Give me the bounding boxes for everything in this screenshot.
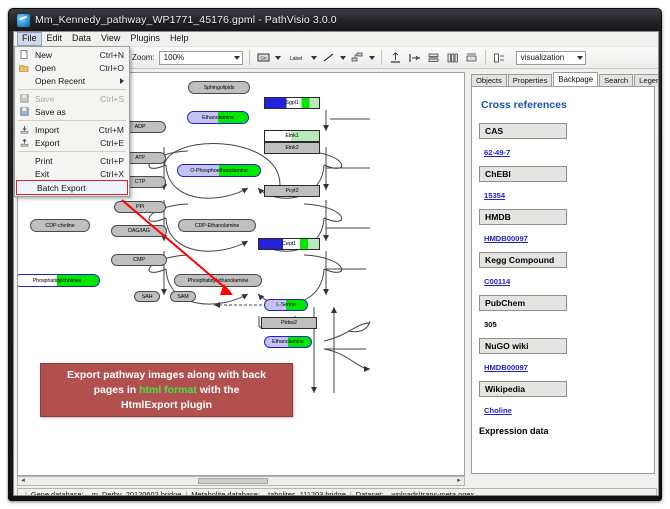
node-label: O-Phosphoethanolamine	[190, 168, 248, 174]
pathway-node-sah[interactable]: SAH	[134, 291, 160, 302]
cross-reference-list: CAS62-49-7ChEBI15354HMDBHMDB00097Kegg Co…	[479, 123, 647, 424]
xref-value-wikipedia[interactable]: Choline	[484, 406, 512, 415]
side-panel: Objects Properties Backpage Search Legen…	[469, 72, 657, 476]
tab-search[interactable]: Search	[599, 74, 633, 86]
xref-value-row: Choline	[479, 400, 647, 424]
xref-value-row: 15354	[479, 185, 647, 209]
toolbar-separator	[381, 50, 382, 65]
tab-legend[interactable]: Legend	[634, 74, 659, 86]
tab-properties[interactable]: Properties	[508, 74, 553, 86]
window-title: Mm_Kennedy_pathway_WP1771_45176.gpml - P…	[35, 14, 337, 26]
callout-line-2: pages in html format with the	[94, 383, 240, 398]
label-dropdown-icon[interactable]	[311, 56, 317, 60]
xref-value-row: HMDB00097	[479, 228, 647, 252]
menu-plugins[interactable]: Plugins	[125, 32, 165, 46]
file-menu-item-save: SaveCtrl+S	[15, 92, 129, 105]
zoom-combobox[interactable]: 100%	[159, 51, 243, 65]
file-menu-label: Import	[31, 125, 99, 135]
toolbar-separator	[485, 50, 486, 65]
hscroll-thumb[interactable]	[198, 478, 268, 484]
screenshot-root: Mm_Kennedy_pathway_WP1771_45176.gpml - P…	[0, 0, 670, 509]
menu-file[interactable]: File	[17, 32, 42, 46]
xref-header-kegg-compound: Kegg Compound	[479, 252, 567, 268]
application-window: Mm_Kennedy_pathway_WP1771_45176.gpml - P…	[8, 8, 662, 501]
expression-data-heading: Expression data	[479, 426, 647, 436]
menu-separator	[18, 151, 126, 152]
node-label: CDP-Ethanolamine	[195, 223, 240, 229]
menu-edit[interactable]: Edit	[42, 32, 68, 46]
gene-node-etnk1[interactable]: Etnk1	[264, 130, 320, 142]
pathway-node-dag-iag[interactable]: DAG/IAG	[111, 225, 167, 237]
zoom-label: Zoom:	[132, 53, 155, 62]
xref-value-chebi[interactable]: 15354	[484, 191, 505, 200]
pathway-node-o-phosphoethanolamine[interactable]: O-Phosphoethanolamine	[177, 164, 261, 177]
file-menu-item-new[interactable]: NewCtrl+N	[15, 48, 129, 61]
visualization-combobox[interactable]: visualization	[516, 51, 586, 65]
pathway-node-phosphatidylethanolamine[interactable]: Phosphatidylethanolamine	[174, 274, 262, 287]
gene-node-etnk2[interactable]: Etnk2	[264, 142, 320, 154]
file-menu-label: Exit	[31, 169, 100, 179]
file-menu-label: Open Recent	[31, 76, 129, 86]
node-label: PPi	[136, 204, 144, 210]
menu-separator	[18, 89, 126, 90]
pathway-node-sam[interactable]: SAM	[170, 291, 196, 302]
save-as-icon	[17, 107, 31, 116]
legend-icon[interactable]	[492, 50, 507, 65]
callout-line2-prefix: pages in	[94, 384, 140, 396]
file-menu-accelerator: Ctrl+P	[100, 156, 129, 166]
file-menu-item-exit[interactable]: ExitCtrl+X	[15, 167, 129, 180]
xref-value-row: 62-49-7	[479, 142, 647, 166]
xref-value-kegg-compound[interactable]: C00114	[484, 277, 510, 286]
visualization-value: visualization	[521, 53, 565, 62]
xref-value-hmdb[interactable]: HMDB00097	[484, 234, 528, 243]
xref-value-row: C00114	[479, 271, 647, 295]
callout-line-1: Export pathway images along with back	[67, 368, 266, 383]
pathway-node-sphingolipids[interactable]: Sphingolipids	[188, 81, 250, 94]
file-menu-label: Save	[31, 94, 100, 104]
file-menu-item-export[interactable]: ExportCtrl+E	[15, 136, 129, 149]
node-label: SAM	[177, 294, 188, 300]
svg-text:Label: Label	[289, 56, 302, 62]
interaction-icon[interactable]	[350, 50, 365, 65]
gene-node-pcyt2[interactable]: Pcyt2	[264, 185, 320, 197]
file-menu-accelerator: Ctrl+O	[99, 63, 129, 73]
line-dropdown-icon[interactable]	[340, 56, 346, 60]
gene-node-sgpl1[interactable]: Sgpl1	[264, 97, 320, 109]
scroll-right-icon[interactable]: ►	[454, 478, 464, 484]
node-label: Phosphatidylcholines	[33, 278, 82, 284]
file-menu-accelerator: Ctrl+X	[100, 169, 129, 179]
align-left-icon[interactable]	[407, 50, 422, 65]
menu-separator	[18, 120, 126, 121]
status-gene-database: Gene database: ...m_Derby_20120602.bridg…	[31, 490, 181, 496]
canvas-hscrollbar[interactable]: ◄ ►	[17, 476, 465, 486]
pathway-node-phosphatidylcholines[interactable]: Phosphatidylcholines	[17, 274, 100, 287]
new-file-icon	[17, 50, 31, 59]
xref-header-chebi: ChEBI	[479, 166, 567, 182]
node-label: Ptdss2	[281, 320, 297, 326]
statusbar: | Gene database: ...m_Derby_20120602.bri…	[17, 488, 657, 496]
toolbar-separator	[249, 50, 250, 65]
file-menu-label: Save as	[31, 107, 129, 117]
svg-text:Gn: Gn	[260, 56, 267, 61]
file-menu-accelerator: Ctrl+N	[100, 50, 129, 60]
callout-highlight: html format	[139, 384, 197, 396]
file-menu-label: Print	[31, 156, 100, 166]
xref-value-pubchem: 305	[484, 320, 497, 329]
side-panel-tabs: Objects Properties Backpage Search Legen…	[469, 72, 657, 86]
scroll-left-icon[interactable]: ◄	[18, 478, 28, 484]
node-label: SAH	[142, 294, 153, 300]
folder-icon	[17, 64, 31, 72]
xref-header-cas: CAS	[479, 123, 567, 139]
node-label: CTP	[135, 179, 145, 185]
save-icon	[17, 94, 31, 103]
datanode-icon[interactable]: Gn	[256, 50, 271, 65]
node-label: ATP	[135, 155, 145, 161]
export-icon	[17, 138, 31, 147]
pathway-node-ethanolamine[interactable]: Ethanolamine	[187, 111, 249, 124]
file-menu-label: Batch Export	[33, 183, 127, 193]
xref-value-cas[interactable]: 62-49-7	[484, 148, 510, 157]
gene-node-ptdss2[interactable]: Ptdss2	[261, 317, 317, 329]
pathvisio-icon	[17, 14, 30, 27]
label-icon[interactable]: Label	[285, 50, 307, 65]
xref-header-pubchem: PubChem	[479, 295, 567, 311]
file-menu-item-print[interactable]: PrintCtrl+P	[15, 154, 129, 167]
file-menu-item-open[interactable]: OpenCtrl+O	[15, 61, 129, 74]
node-label: Ethanolamine	[272, 339, 304, 345]
pathway-node-cdp-choline[interactable]: CDP-choline	[30, 219, 90, 232]
node-label: Cept1	[282, 241, 296, 247]
menu-help[interactable]: Help	[165, 32, 194, 46]
menu-data[interactable]: Data	[67, 32, 96, 46]
xref-header-hmdb: HMDB	[479, 209, 567, 225]
menubar: File Edit Data View Plugins Help	[14, 32, 658, 47]
pathway-node-cdp-ethanolamine[interactable]: CDP-Ethanolamine	[178, 219, 256, 232]
gene-node-cept1[interactable]: Cept1	[258, 238, 320, 250]
status-sep: |	[21, 490, 31, 496]
stack-icon[interactable]	[426, 50, 441, 65]
status-dataset: Dataset: ...wnloads\trans-meta.pgex	[356, 490, 474, 496]
datanode-dropdown-icon[interactable]	[275, 56, 281, 60]
file-menu-item-import[interactable]: ImportCtrl+M	[15, 123, 129, 136]
xref-value-nugo-wiki[interactable]: HMDB00097	[484, 363, 528, 372]
interaction-dropdown-icon[interactable]	[369, 56, 375, 60]
file-menu-label: Open	[31, 63, 99, 73]
chevron-down-icon	[234, 56, 240, 60]
pathway-node-ethanolamine[interactable]: Ethanolamine	[264, 336, 312, 348]
node-label: Phosphatidylethanolamine	[188, 278, 249, 284]
file-menu-label: Export	[31, 138, 100, 148]
chevron-down-icon	[577, 56, 583, 60]
file-menu-item-open-recent[interactable]: Open Recent	[15, 74, 129, 87]
node-label: ADP	[135, 124, 146, 130]
status-metabolite-database: Metabolite database: ...tabolites_111203…	[191, 490, 346, 496]
align-top-icon[interactable]	[388, 50, 403, 65]
pathway-node-ppi[interactable]: PPi	[114, 201, 166, 213]
menu-view[interactable]: View	[96, 32, 125, 46]
tab-objects[interactable]: Objects	[471, 74, 507, 86]
node-label: Etnk1	[285, 133, 298, 139]
node-label: Pcyt2	[286, 188, 299, 194]
tab-backpage[interactable]: Backpage	[553, 72, 598, 86]
xref-header-nugo-wiki: NuGO wiki	[479, 338, 567, 354]
status-sep: |	[181, 490, 191, 496]
import-icon	[17, 125, 31, 134]
node-label: DAG/IAG	[128, 228, 150, 234]
xref-value-row: 305	[479, 314, 647, 338]
annotation-callout: Export pathway images along with back pa…	[40, 363, 293, 417]
file-menu-label: New	[31, 50, 100, 60]
size-icon[interactable]	[464, 50, 479, 65]
node-label: Sphingolipids	[204, 85, 235, 91]
distribute-icon[interactable]	[445, 50, 460, 65]
file-dropdown-menu[interactable]: NewCtrl+NOpenCtrl+OOpen RecentSaveCtrl+S…	[14, 46, 130, 197]
file-menu-item-batch-export[interactable]: Batch Export	[16, 180, 128, 195]
zoom-value: 100%	[164, 53, 184, 62]
xref-header-wikipedia: Wikipedia	[479, 381, 567, 397]
node-label: L-Serine	[276, 302, 296, 308]
xref-value-row: HMDB00097	[479, 357, 647, 381]
file-menu-item-save-as[interactable]: Save as	[15, 105, 129, 118]
line-icon[interactable]	[321, 50, 336, 65]
file-menu-accelerator: Ctrl+M	[99, 125, 129, 135]
node-label: CMP	[133, 257, 145, 263]
cross-references-heading: Cross references	[481, 99, 647, 111]
node-label: Sgpl1	[285, 100, 298, 106]
backpage-content[interactable]: Cross references CAS62-49-7ChEBI15354HMD…	[471, 86, 655, 474]
callout-line-3: HtmlExport plugin	[121, 398, 212, 413]
submenu-arrow-icon	[120, 78, 124, 84]
file-menu-accelerator: Ctrl+S	[100, 94, 129, 104]
window-titlebar[interactable]: Mm_Kennedy_pathway_WP1771_45176.gpml - P…	[9, 9, 661, 31]
pathway-node-cmp[interactable]: CMP	[111, 254, 167, 266]
node-label: Ethanolamine	[202, 115, 234, 121]
pathway-node-l-serine[interactable]: L-Serine	[264, 299, 308, 311]
node-label: Etnk2	[285, 145, 298, 151]
status-sep: |	[346, 490, 356, 496]
file-menu-accelerator: Ctrl+E	[100, 138, 129, 148]
node-label: CDP-choline	[45, 223, 74, 229]
callout-line2-suffix: with the	[197, 384, 240, 396]
